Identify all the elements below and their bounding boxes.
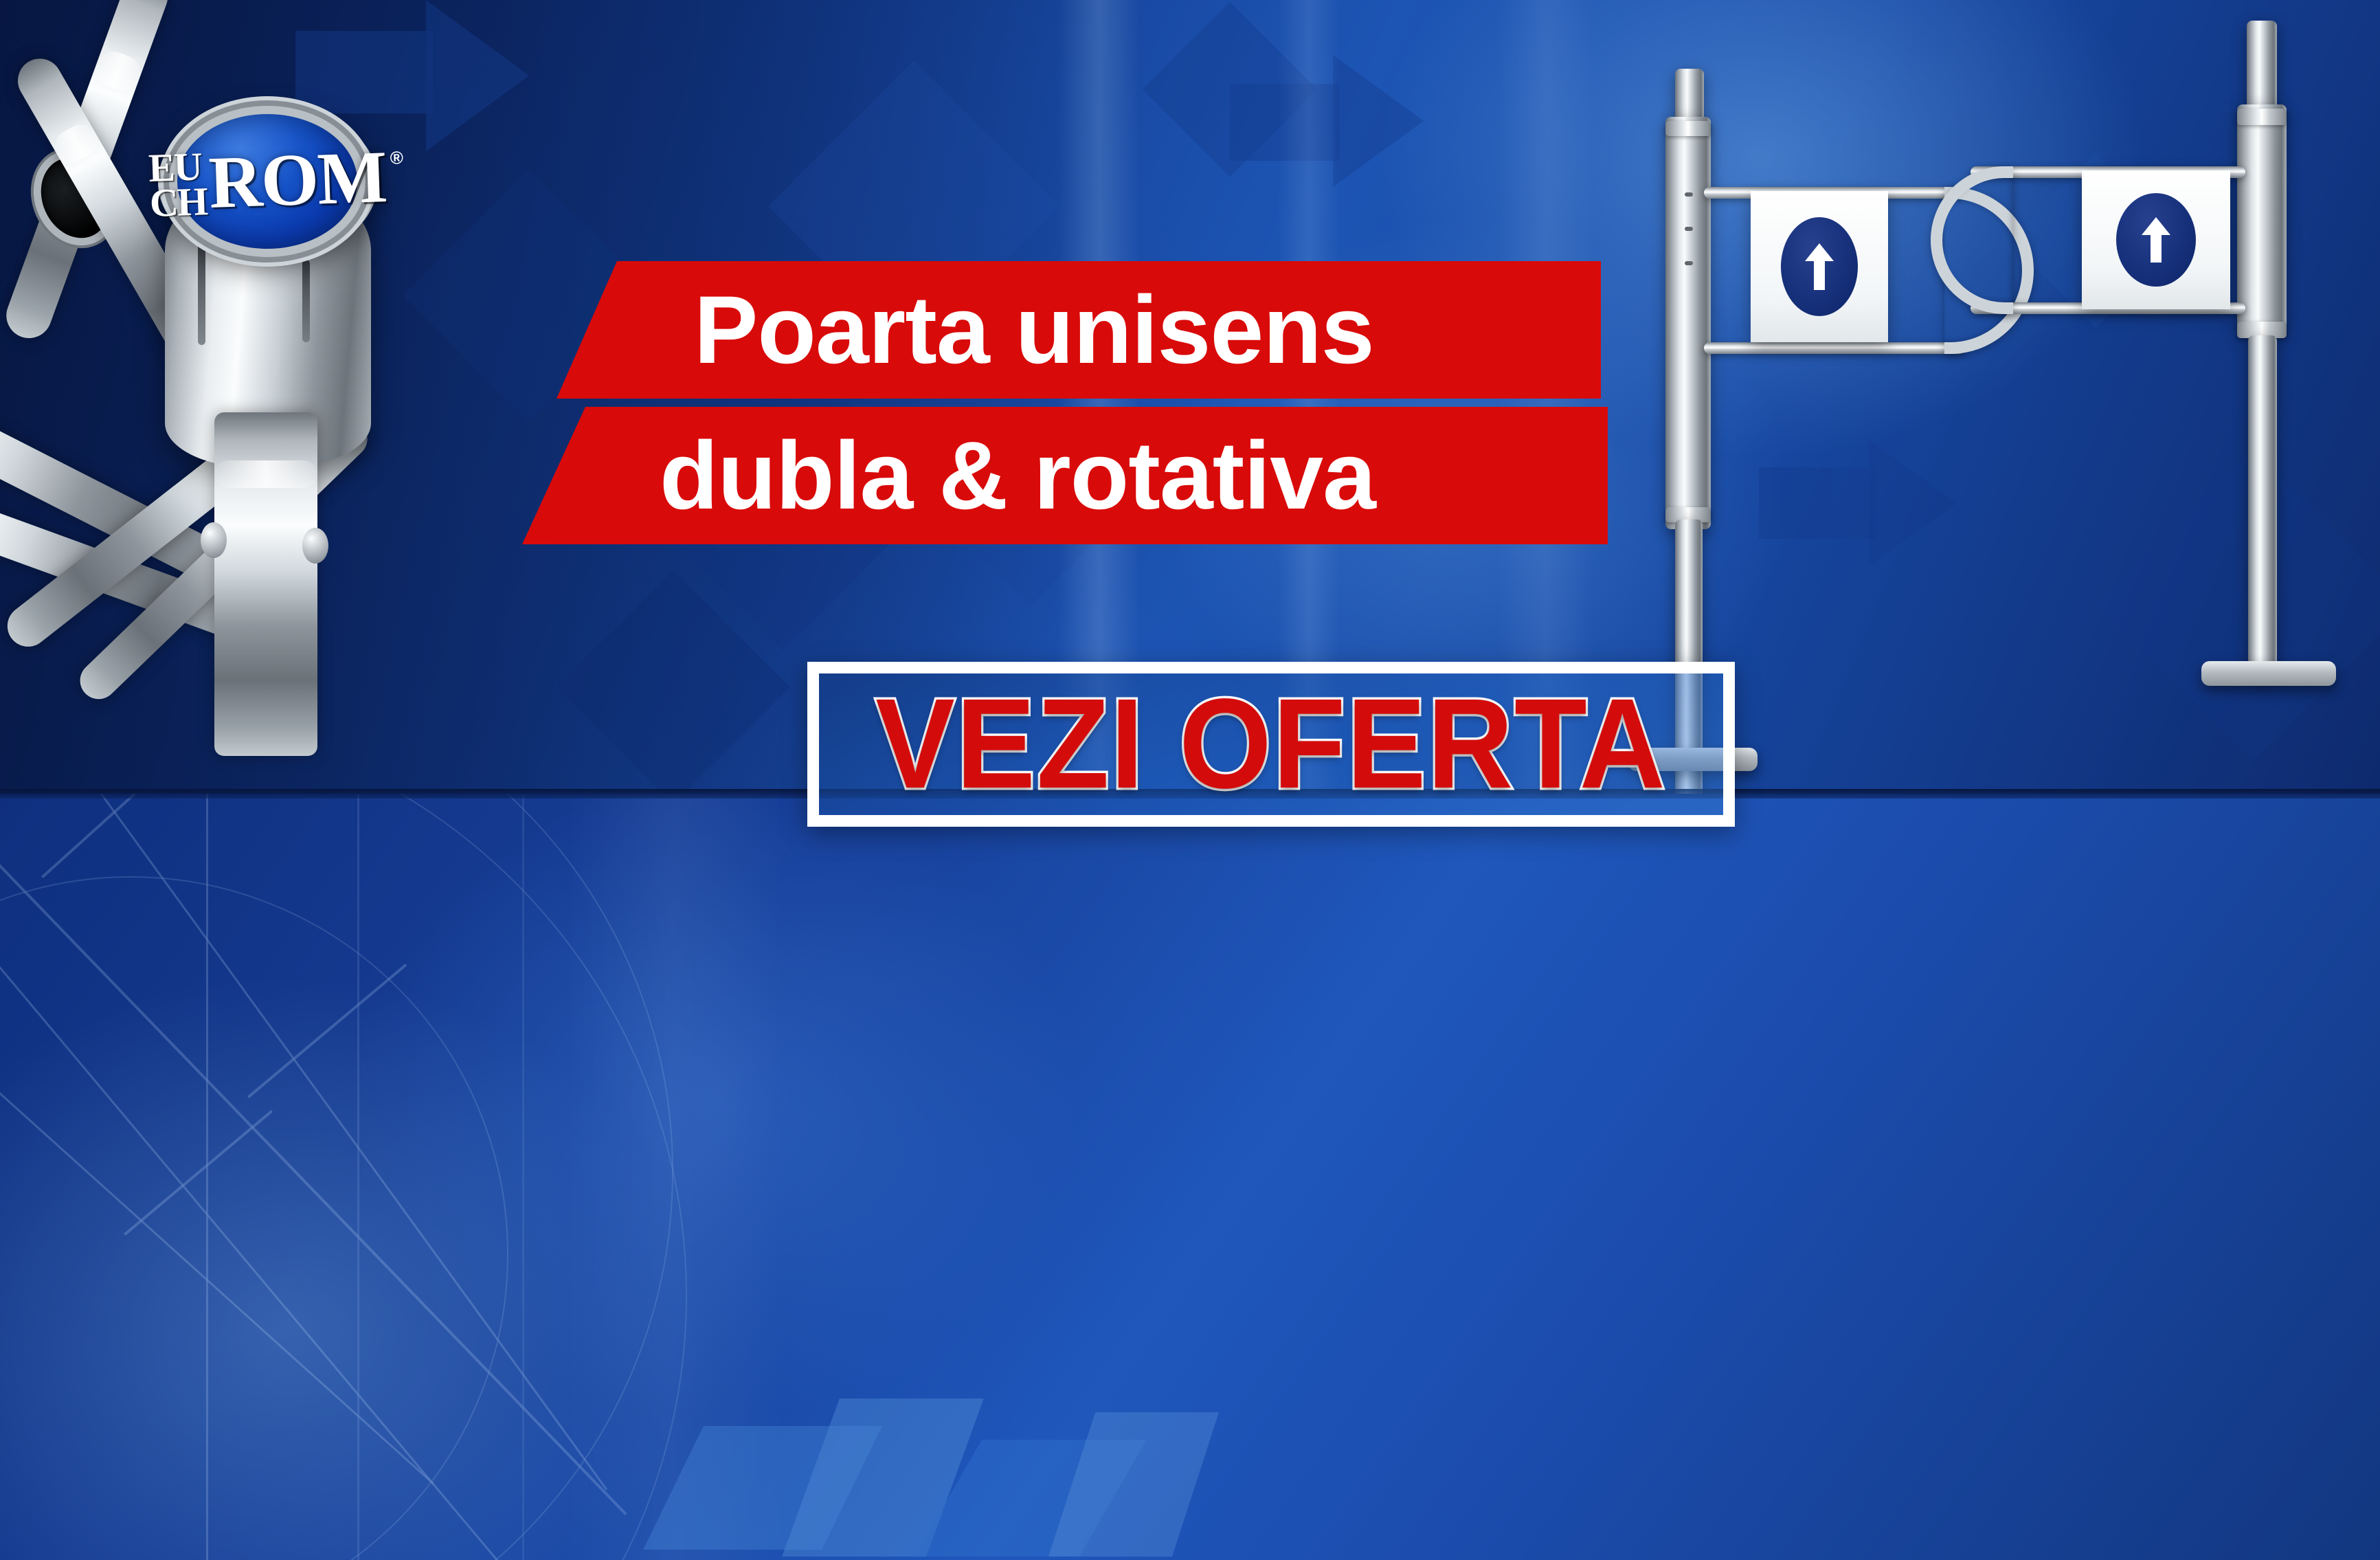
arrow-oval-icon	[1781, 217, 1858, 316]
arrow-oval-icon	[2116, 193, 2196, 287]
logo-line-ch: CH	[149, 183, 207, 221]
tripod-turnstile-product: EU CH ROM ®	[0, 0, 660, 749]
top-headline-ribbon-line2: dubla & rotativa	[522, 407, 1608, 544]
glass-shards-decor	[673, 1385, 1195, 1560]
view-offer-button[interactable]: VEZI OFERTA	[807, 662, 1735, 827]
registered-mark-icon: ®	[390, 147, 403, 169]
top-headline-line1: Poarta unisens	[694, 274, 1374, 386]
promo-banner: EU CH ROM ®	[0, 0, 2380, 1560]
up-arrow-icon	[1804, 241, 1835, 293]
bottom-promo-section: Porta dubla unisens automata cu senzor	[0, 794, 2380, 1560]
view-offer-label: VEZI OFERTA	[875, 680, 1666, 808]
top-headline-line2: dubla & rotativa	[660, 420, 1376, 531]
up-arrow-icon	[2140, 214, 2172, 265]
gate-sign-top-right	[2082, 170, 2230, 309]
eurochrom-logo: EU CH ROM ®	[177, 114, 357, 249]
logo-rom: ROM	[207, 146, 387, 216]
gate-sign-top-left	[1751, 191, 1888, 342]
top-headline-ribbon-line1: Poarta unisens	[557, 261, 1601, 399]
